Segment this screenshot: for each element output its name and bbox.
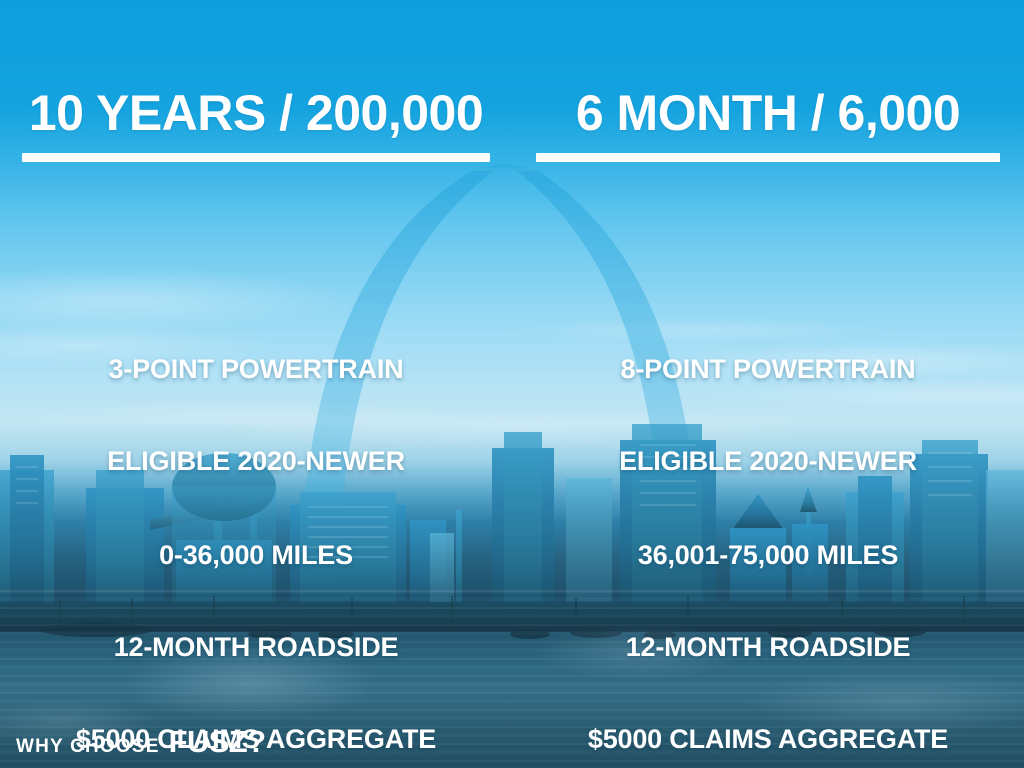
feature-item: 12-MONTH ROADSIDE	[0, 634, 512, 661]
feature-item: ELIGIBLE 2020-NEWER	[512, 448, 1024, 475]
slide-content: 10 YEARS / 200,000 3-POINT POWERTRAIN EL…	[0, 0, 1024, 768]
plan-heading-left: 10 YEARS / 200,000	[0, 0, 512, 138]
feature-item: 12-MONTH ROADSIDE	[512, 634, 1024, 661]
plan-heading-right: 6 MONTH / 6,000	[512, 0, 1024, 138]
footer-prefix-text: WHY CHOOSE	[16, 736, 160, 758]
feature-item: 8-POINT POWERTRAIN	[512, 356, 1024, 383]
feature-item: ELIGIBLE 2020-NEWER	[0, 448, 512, 475]
plan-features-left-body: 3-POINT POWERTRAIN ELIGIBLE 2020-NEWER 0…	[0, 162, 512, 722]
plan-features-right-body: 8-POINT POWERTRAIN ELIGIBLE 2020-NEWER 3…	[512, 162, 1024, 722]
heading-underline-left	[22, 153, 490, 162]
plan-column-right: 6 MONTH / 6,000 8-POINT POWERTRAIN ELIGI…	[512, 0, 1024, 722]
comparison-columns: 10 YEARS / 200,000 3-POINT POWERTRAIN EL…	[0, 0, 1024, 722]
heading-underline-right	[536, 153, 1000, 162]
feature-item: 3-POINT POWERTRAIN	[0, 356, 512, 383]
slide-canvas: 10 YEARS / 200,000 3-POINT POWERTRAIN EL…	[0, 0, 1024, 768]
feature-item: $5000 CLAIMS AGGREGATE	[512, 726, 1024, 753]
footer-brand-lockup: WHY CHOOSE FUSZ?	[16, 724, 265, 760]
footer-brand-name: FUSZ?	[169, 724, 266, 760]
feature-item: 36,001-75,000 MILES	[512, 542, 1024, 569]
feature-item: 0-36,000 MILES	[0, 542, 512, 569]
plan-column-left: 10 YEARS / 200,000 3-POINT POWERTRAIN EL…	[0, 0, 512, 722]
